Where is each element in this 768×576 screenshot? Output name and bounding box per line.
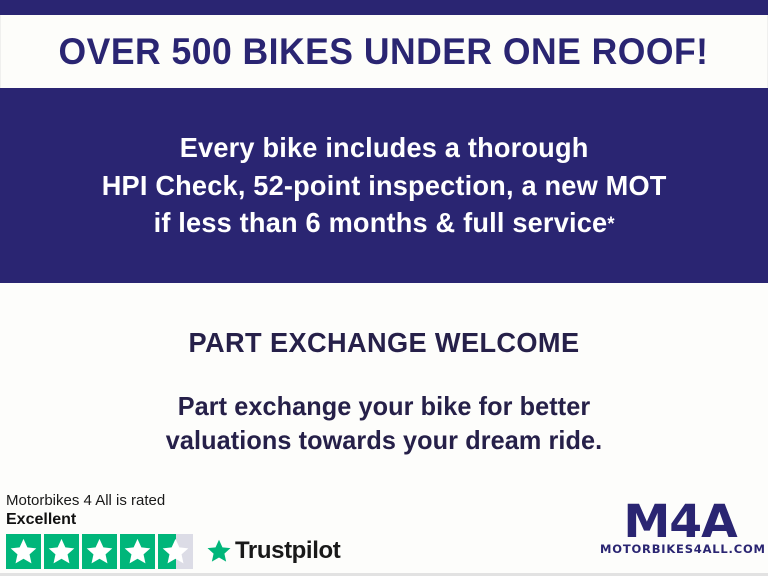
footer-bar: Motorbikes 4 All is rated Excellent	[0, 483, 768, 576]
trustpilot-brand-name: Trustpilot	[235, 537, 340, 565]
brand-logo-mark: M4A	[596, 501, 764, 542]
page-title: OVER 500 BIKES UNDER ONE ROOF!	[59, 33, 709, 70]
star-icon	[44, 534, 79, 569]
feature-line-3: if less than 6 months & full service	[153, 207, 607, 238]
trustpilot-star-icon	[206, 538, 232, 564]
brand-logo-m4a[interactable]: M4A MOTORBIKES4ALL.COM	[600, 501, 760, 557]
half-star-icon	[158, 534, 193, 569]
part-exchange-body-line-2: valuations towards your dream ride.	[12, 423, 757, 457]
headline-band: OVER 500 BIKES UNDER ONE ROOF!	[0, 15, 768, 88]
feature-line-3-wrapper: if less than 6 months & full service*	[102, 204, 667, 242]
part-exchange-heading: PART EXCHANGE WELCOME	[12, 327, 757, 359]
trustpilot-stars	[6, 534, 193, 569]
trustpilot-logo[interactable]: Trustpilot	[206, 537, 340, 565]
feature-line-2: HPI Check, 52-point inspection, a new MO…	[102, 167, 667, 205]
star-icon	[120, 534, 155, 569]
star-icon	[6, 534, 41, 569]
part-exchange-body-line-1: Part exchange your bike for better	[12, 389, 757, 423]
star-icon	[82, 534, 117, 569]
features-navy-block: Every bike includes a thorough HPI Check…	[0, 88, 768, 283]
trustpilot-rated-label: Motorbikes 4 All is rated	[6, 492, 316, 510]
features-text-group: Every bike includes a thorough HPI Check…	[102, 129, 667, 242]
feature-line-1: Every bike includes a thorough	[102, 129, 667, 167]
trustpilot-stars-row: Trustpilot	[6, 534, 316, 569]
top-navy-strip	[0, 0, 768, 15]
part-exchange-block: PART EXCHANGE WELCOME Part exchange your…	[0, 283, 768, 483]
trustpilot-rating-widget[interactable]: Motorbikes 4 All is rated Excellent	[6, 492, 316, 569]
trustpilot-rating-word: Excellent	[6, 511, 316, 530]
footnote-asterisk: *	[607, 214, 614, 235]
motorbike-dealer-advert-banner: OVER 500 BIKES UNDER ONE ROOF! Every bik…	[0, 0, 768, 576]
part-exchange-body: Part exchange your bike for better valua…	[12, 389, 757, 458]
